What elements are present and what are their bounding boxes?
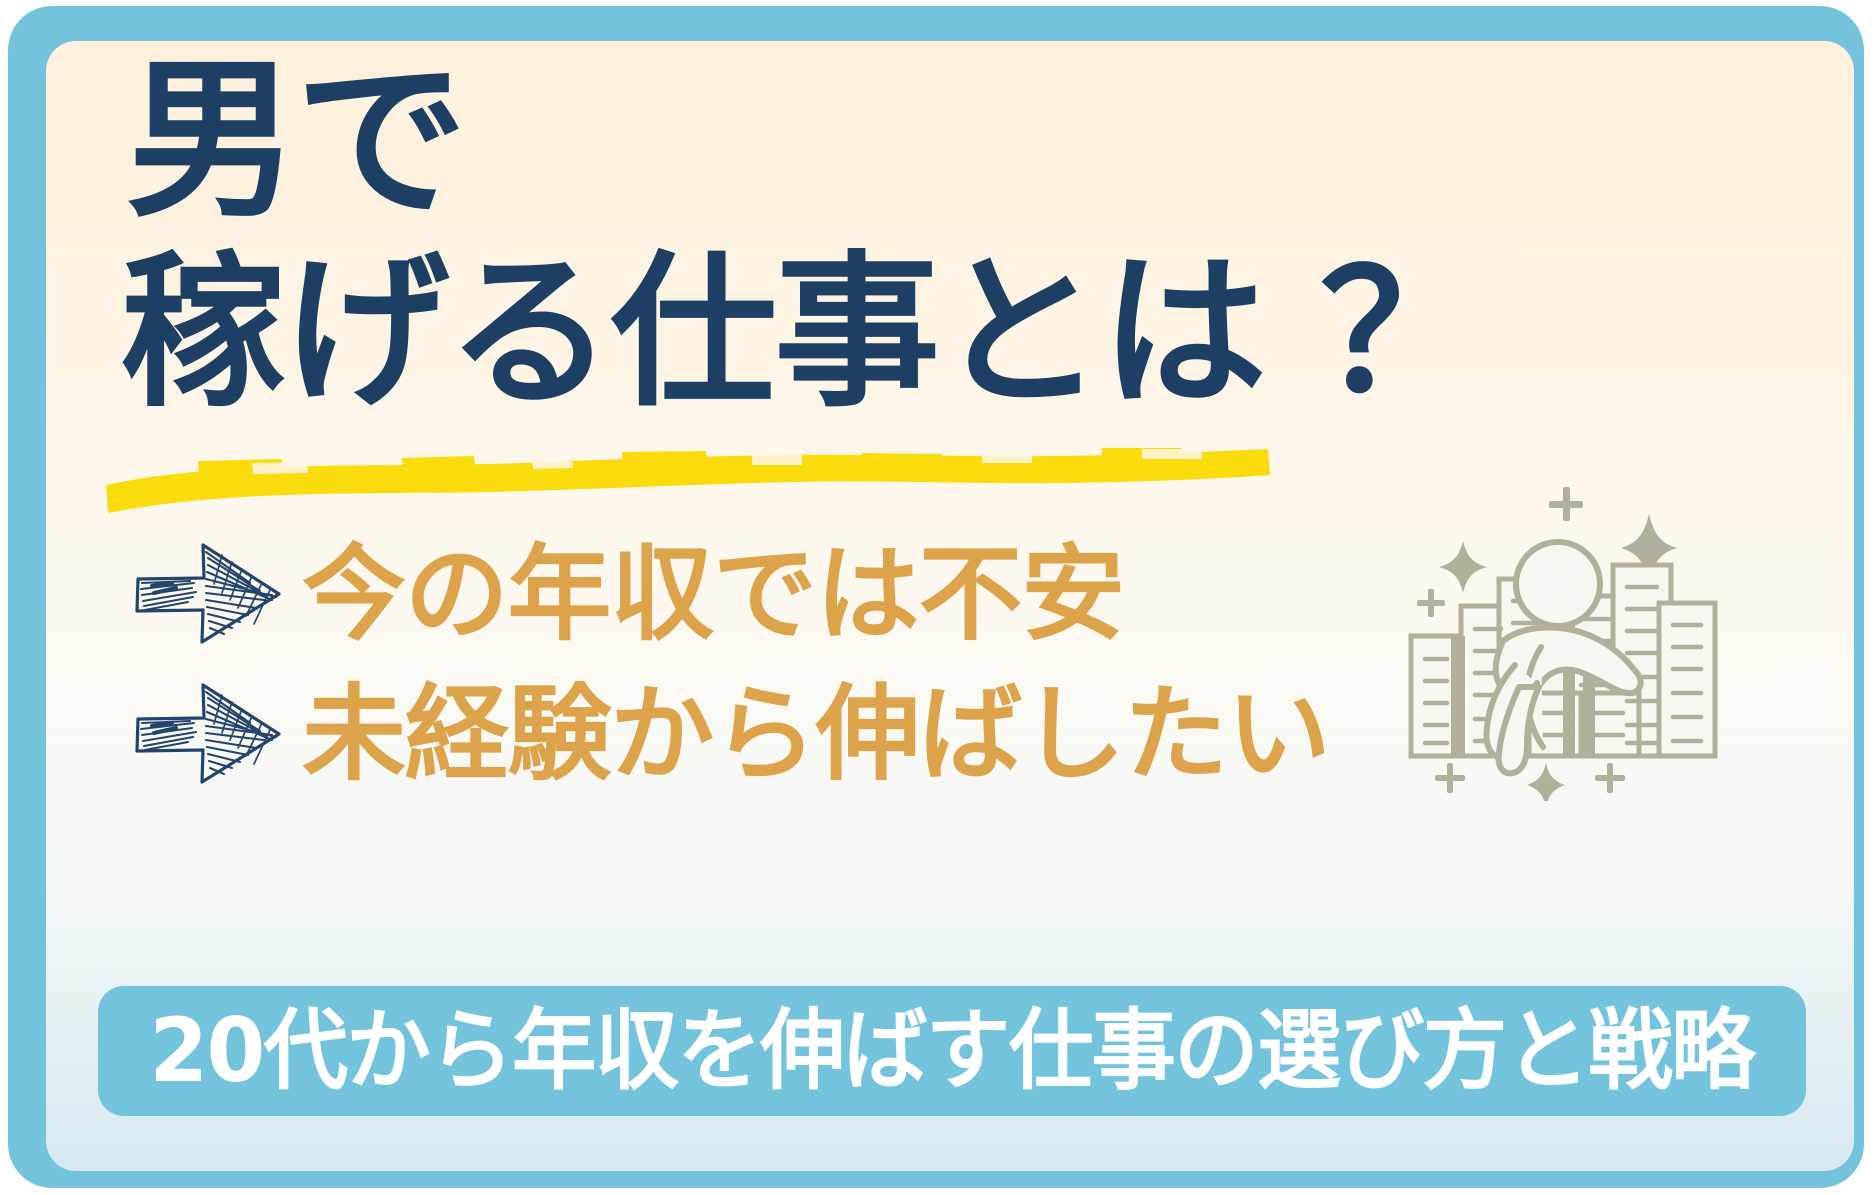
headline-block: 男で 稼げる仕事とは ？ [120,55,1640,417]
plus-mark [1595,763,1625,793]
hand-drawn-arrow-right-icon [132,538,284,650]
sparkle-four-point [1439,541,1487,593]
plus-mark [1417,589,1445,617]
hand-drawn-arrow-right-icon [132,678,284,790]
plus-mark [1435,763,1465,793]
bullet-label-2: 未経験から伸ばしたい [302,682,1330,786]
subtitle-banner-text: 20代から年収を伸ばす仕事の選び方と戦略 [150,1007,1754,1095]
headline-line-2: 稼げる仕事とは ？ [120,251,1640,417]
yellow-highlight-brush [102,425,1272,521]
outer-blue-frame: 男で 稼げる仕事とは ？ 今の年収では不安 [8,6,1864,1188]
sparkle-four-point [1527,763,1565,801]
plus-mark [1549,487,1583,521]
subtitle-banner: 20代から年収を伸ばす仕事の選び方と戦略 [98,986,1806,1116]
bullet-item-1: 今の年収では不安 [132,533,1272,655]
bullet-item-2: 未経験から伸ばしたい [132,673,1272,795]
person-climbing-money-stacks-illustration [1391,481,1731,801]
bullet-label-1: 今の年収では不安 [302,542,1124,646]
content-card: 男で 稼げる仕事とは ？ 今の年収では不安 [46,41,1854,1171]
headline-line-1: 男で [126,55,1640,227]
bullet-list: 今の年収では不安 未経験から伸ばしたい [132,533,1272,795]
